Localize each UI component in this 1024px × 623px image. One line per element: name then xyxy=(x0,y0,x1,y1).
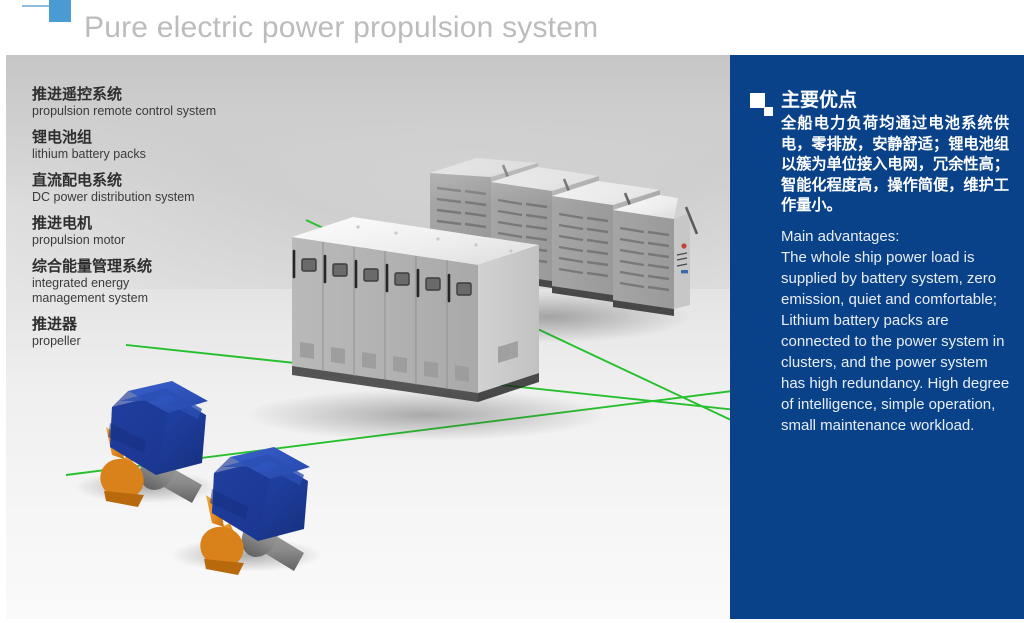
callout-en-label: DC power distribution system xyxy=(32,190,292,205)
callout-cn-label: 综合能量管理系统 xyxy=(32,257,292,276)
callout-cn-label: 锂电池组 xyxy=(32,128,292,147)
square-large xyxy=(750,93,765,108)
two-squares-icon xyxy=(750,93,774,117)
callout-propulsion-motor: 推进电机 propulsion motor xyxy=(32,214,292,248)
callout-propeller: 推进器 propeller xyxy=(32,315,292,349)
callout-en-label: integrated energy management system xyxy=(32,276,192,306)
callout-en-label: lithium battery packs xyxy=(32,147,292,162)
callout-en-label: propeller xyxy=(32,334,292,349)
square-small xyxy=(764,107,773,116)
slide-root: Pure electric power propulsion system xyxy=(0,0,1024,623)
callout-cn-label: 推进电机 xyxy=(32,214,292,233)
callout-label-list: 推进遥控系统 propulsion remote control system … xyxy=(32,85,292,358)
panel-body-cn: 全船电力负荷均通过电池系统供电，零排放，安静舒适；锂电池组以簇为单位接入电网，冗… xyxy=(781,113,1009,216)
callout-en-label: propulsion motor xyxy=(32,233,292,248)
azimuth-thruster-1 xyxy=(74,381,218,507)
panel-heading-en: Main advantages: xyxy=(781,226,1013,247)
main-advantages-panel: 主要优点 全船电力负荷均通过电池系统供电，零排放，安静舒适；锂电池组以簇为单位接… xyxy=(730,55,1024,619)
callout-cn-label: 推进器 xyxy=(32,315,292,334)
azimuth-thruster-2 xyxy=(170,447,322,575)
battery-rack-4 xyxy=(613,195,697,316)
callout-integrated-energy-management-system: 综合能量管理系统 integrated energy management sy… xyxy=(32,257,292,306)
callout-cn-label: 直流配电系统 xyxy=(32,171,292,190)
page-title: Pure electric power propulsion system xyxy=(84,6,724,50)
panel-body-en: The whole ship power load is supplied by… xyxy=(781,247,1015,436)
header-square-decoration xyxy=(49,0,71,22)
callout-dc-power-distribution-system: 直流配电系统 DC power distribution system xyxy=(32,171,292,205)
callout-en-label: propulsion remote control system xyxy=(32,104,292,119)
callout-lithium-battery-packs: 锂电池组 lithium battery packs xyxy=(32,128,292,162)
header-rule xyxy=(22,5,52,7)
panel-heading-cn: 主要优点 xyxy=(781,88,857,112)
callout-cn-label: 推进遥控系统 xyxy=(32,85,292,104)
callout-propulsion-remote-control-system: 推进遥控系统 propulsion remote control system xyxy=(32,85,292,119)
